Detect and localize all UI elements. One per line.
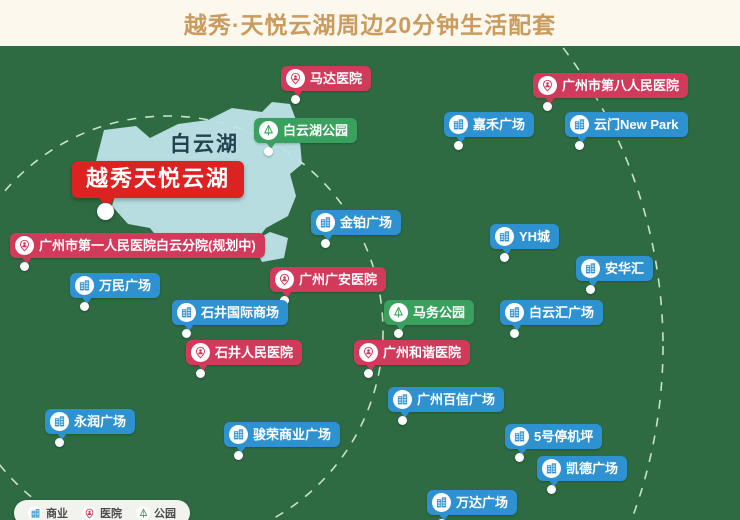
poi-dot	[575, 141, 584, 150]
poi-marker[interactable]: 白云湖公园	[254, 118, 357, 143]
poi-dot	[182, 329, 191, 338]
hospital-pin-icon	[82, 506, 96, 520]
poi-label: 石井国际商场	[201, 306, 279, 319]
building-icon	[581, 259, 600, 278]
poi-dot	[586, 285, 595, 294]
poi-marker[interactable]: 石井人民医院	[186, 340, 302, 365]
poi-label: 广州市第一人民医院白云分院(规划中)	[39, 239, 256, 252]
building-icon	[316, 213, 335, 232]
building-icon	[432, 493, 451, 512]
poi-label: 凯德广场	[566, 462, 618, 475]
poi-marker[interactable]: 金铂广场	[311, 210, 401, 235]
poi-marker[interactable]: 广州市第八人民医院	[533, 73, 688, 98]
hospital-pin-icon	[538, 76, 557, 95]
poi-label: 5号停机坪	[534, 430, 593, 443]
poi-marker[interactable]: YH城	[490, 224, 559, 249]
poi-marker[interactable]: 骏荣商业广场	[224, 422, 340, 447]
poi-label: 云门New Park	[594, 118, 679, 131]
header-banner: 越秀·天悦云湖周边20分钟生活配套	[0, 0, 740, 46]
poi-label: 骏荣商业广场	[253, 428, 331, 441]
poi-marker[interactable]: 万民广场	[70, 273, 160, 298]
poi-marker[interactable]: 白云汇广场	[500, 300, 603, 325]
poi-label: 白云湖公园	[283, 124, 348, 137]
poi-label: 石井人民医院	[215, 346, 293, 359]
building-icon	[449, 115, 468, 134]
poi-label: YH城	[519, 230, 550, 243]
hospital-pin-icon	[359, 343, 378, 362]
poi-label: 永润广场	[74, 415, 126, 428]
hospital-pin-icon	[15, 236, 34, 255]
building-icon	[75, 276, 94, 295]
poi-dot	[543, 102, 552, 111]
building-icon	[28, 506, 42, 520]
building-icon	[177, 303, 196, 322]
legend-label: 商业	[46, 505, 68, 520]
poi-marker[interactable]: 5号停机坪	[505, 424, 602, 449]
poi-dot	[321, 239, 330, 248]
poi-dot	[55, 438, 64, 447]
poi-dot	[454, 141, 463, 150]
building-icon	[542, 459, 561, 478]
poi-marker[interactable]: 广州广安医院	[270, 267, 386, 292]
poi-marker[interactable]: 石井国际商场	[172, 300, 288, 325]
main-project-pill[interactable]: 越秀天悦云湖	[72, 161, 244, 198]
infographic-map: 越秀·天悦云湖周边20分钟生活配套 白云湖 越秀天悦云湖 马达医院广州市第八人民…	[0, 0, 740, 520]
poi-dot	[196, 369, 205, 378]
main-project-label: 越秀天悦云湖	[86, 167, 230, 191]
page-title: 越秀·天悦云湖周边20分钟生活配套	[184, 6, 556, 40]
poi-dot	[20, 262, 29, 271]
poi-marker[interactable]: 凯德广场	[537, 456, 627, 481]
tree-icon	[389, 303, 408, 322]
poi-marker[interactable]: 永润广场	[45, 409, 135, 434]
hospital-pin-icon	[275, 270, 294, 289]
hospital-pin-icon	[286, 69, 305, 88]
poi-dot	[234, 451, 243, 460]
poi-dot	[364, 369, 373, 378]
poi-label: 安华汇	[605, 262, 644, 275]
tree-icon	[259, 121, 278, 140]
legend-label: 医院	[100, 505, 122, 520]
poi-label: 广州市第八人民医院	[562, 79, 679, 92]
poi-marker[interactable]: 万达广场	[427, 490, 517, 515]
poi-marker[interactable]: 广州市第一人民医院白云分院(规划中)	[10, 233, 265, 258]
poi-dot	[500, 253, 509, 262]
legend-item: 公园	[136, 505, 176, 520]
poi-dot	[515, 453, 524, 462]
main-project-marker[interactable]: 越秀天悦云湖	[72, 161, 244, 198]
poi-label: 万民广场	[99, 279, 151, 292]
building-icon	[50, 412, 69, 431]
poi-label: 白云汇广场	[529, 306, 594, 319]
building-icon	[229, 425, 248, 444]
legend-label: 公园	[154, 505, 176, 520]
poi-dot	[291, 95, 300, 104]
poi-dot	[264, 147, 273, 156]
poi-marker[interactable]: 云门New Park	[565, 112, 688, 137]
building-icon	[505, 303, 524, 322]
lake-label: 白云湖	[170, 128, 239, 158]
building-icon	[570, 115, 589, 134]
poi-label: 广州广安医院	[299, 273, 377, 286]
poi-label: 广州和谐医院	[383, 346, 461, 359]
legend-item: 医院	[82, 505, 122, 520]
poi-dot	[510, 329, 519, 338]
poi-label: 马务公园	[413, 306, 465, 319]
legend: 商业医院公园	[14, 500, 190, 520]
poi-dot	[394, 329, 403, 338]
building-icon	[495, 227, 514, 246]
poi-dot	[547, 485, 556, 494]
poi-dot	[398, 416, 407, 425]
poi-dot	[80, 302, 89, 311]
legend-item: 商业	[28, 505, 68, 520]
hospital-pin-icon	[191, 343, 210, 362]
poi-label: 广州百信广场	[417, 393, 495, 406]
poi-marker[interactable]: 嘉禾广场	[444, 112, 534, 137]
poi-marker[interactable]: 马务公园	[384, 300, 474, 325]
poi-label: 金铂广场	[340, 216, 392, 229]
building-icon	[393, 390, 412, 409]
poi-marker[interactable]: 安华汇	[576, 256, 653, 281]
tree-icon	[136, 506, 150, 520]
poi-marker[interactable]: 广州百信广场	[388, 387, 504, 412]
building-icon	[510, 427, 529, 446]
poi-marker[interactable]: 广州和谐医院	[354, 340, 470, 365]
poi-marker[interactable]: 马达医院	[281, 66, 371, 91]
poi-label: 马达医院	[310, 72, 362, 85]
poi-label: 嘉禾广场	[473, 118, 525, 131]
map-canvas: 白云湖 越秀天悦云湖 马达医院广州市第八人民医院白云湖公园嘉禾广场云门New P…	[0, 46, 740, 520]
poi-label: 万达广场	[456, 496, 508, 509]
